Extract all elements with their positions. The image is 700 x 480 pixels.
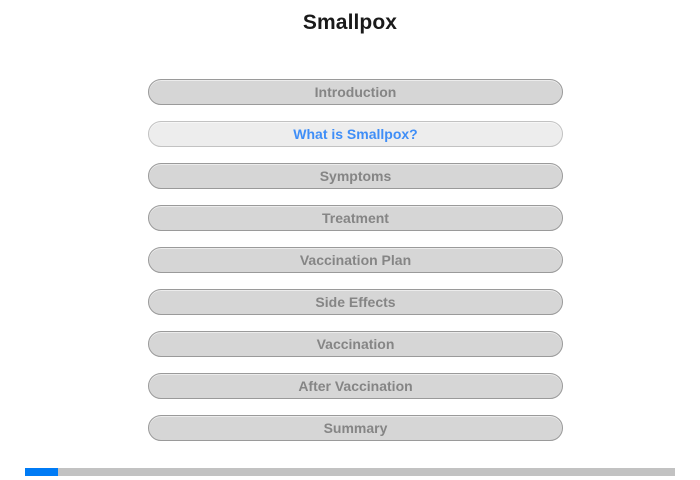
menu-button-vaccination-plan[interactable]: Vaccination Plan [148,247,563,273]
menu-button-summary[interactable]: Summary [148,415,563,441]
presentation-page: Smallpox IntroductionWhat is Smallpox?Sy… [0,0,700,480]
progress-bar-fill [25,468,58,476]
page-title: Smallpox [0,9,700,37]
menu-button-introduction[interactable]: Introduction [148,79,563,105]
menu-button-side-effects[interactable]: Side Effects [148,289,563,315]
menu-button-vaccination[interactable]: Vaccination [148,331,563,357]
menu-button-what-is-smallpox[interactable]: What is Smallpox? [148,121,563,147]
section-menu: IntroductionWhat is Smallpox?SymptomsTre… [148,79,563,441]
menu-button-treatment[interactable]: Treatment [148,205,563,231]
menu-button-after-vaccination[interactable]: After Vaccination [148,373,563,399]
progress-bar-track[interactable] [25,468,675,476]
menu-button-symptoms[interactable]: Symptoms [148,163,563,189]
